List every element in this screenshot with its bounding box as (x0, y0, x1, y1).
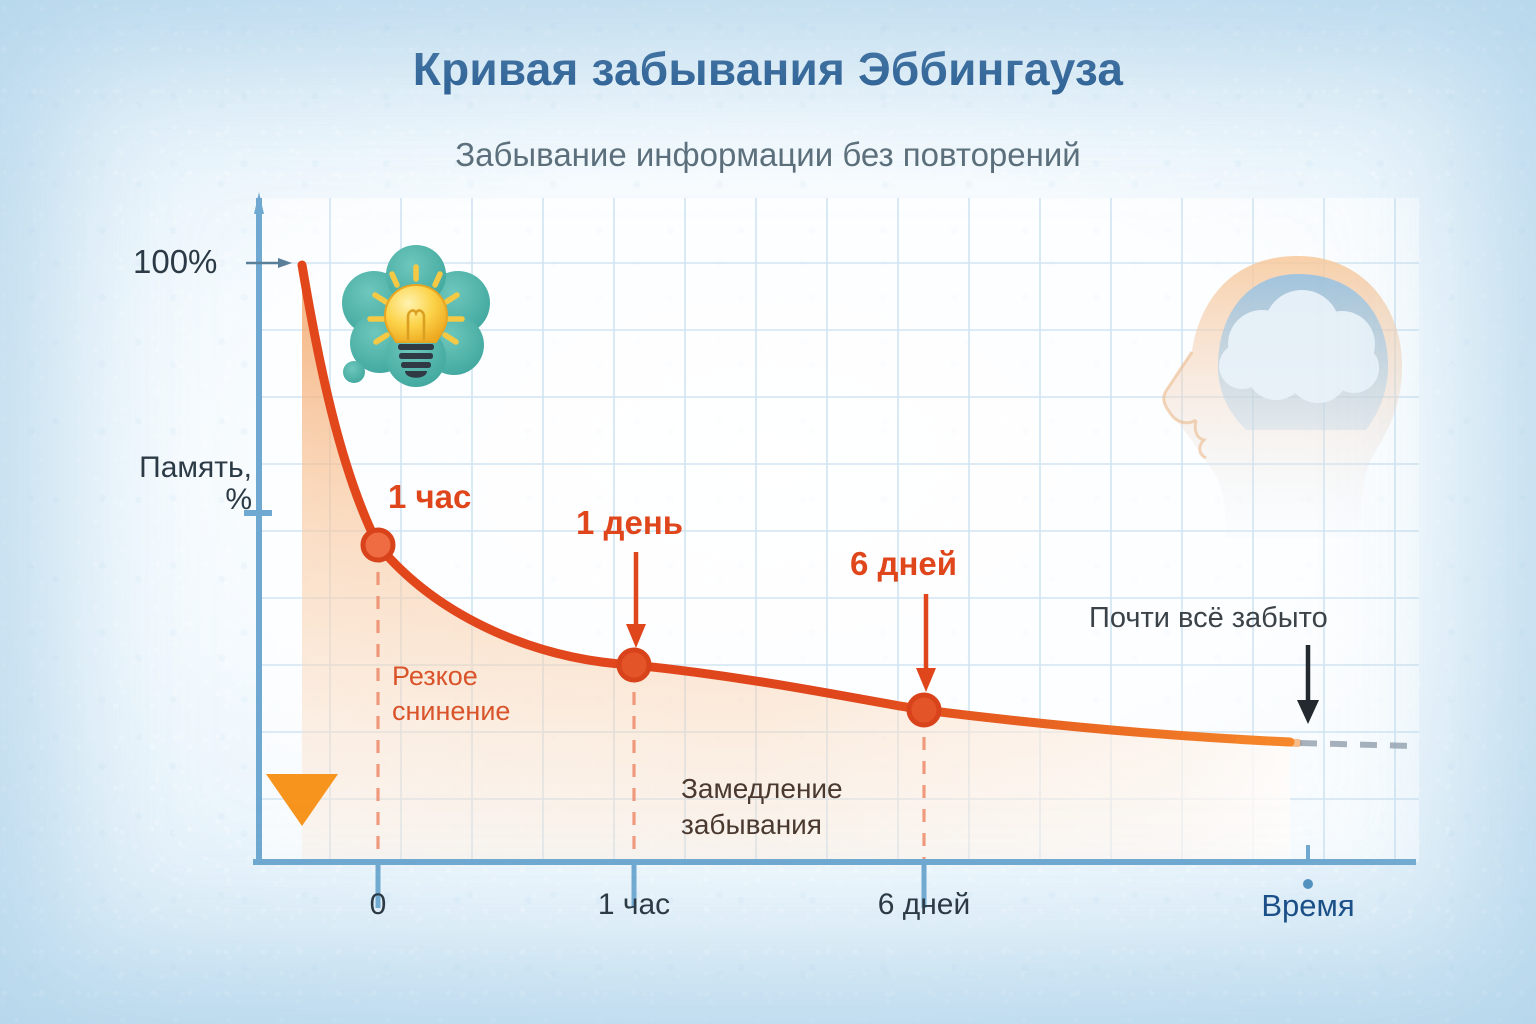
region-label-slow-forgetting: Замедление забывания (681, 771, 843, 843)
x-axis-tick-label-6days: 6 дней (844, 888, 1004, 922)
head-brain-icon (1130, 248, 1430, 538)
y-axis-title: Память, % (100, 452, 252, 515)
curve-tail-fade (1240, 740, 1298, 743)
x-axis-tick-label-1hour: 1 час (559, 888, 709, 922)
data-point-1day[interactable] (619, 650, 649, 680)
annotation-6days: 6 дней (850, 545, 957, 583)
region-slow-line2: забывания (681, 807, 843, 843)
y-axis-tick-label-100: 100% (133, 243, 217, 281)
region-slow-line1: Замедление (681, 771, 843, 807)
y-axis-title-line2: % (100, 484, 252, 516)
region-label-sharp-decline: Резкое снинение (392, 659, 510, 728)
annotation-1day: 1 день (576, 504, 683, 542)
region-sharp-line2: снинение (392, 694, 510, 729)
infographic-canvas: Кривая забывания Эббингауза Забывание ин… (0, 0, 1536, 1024)
x-axis-title: Время (1228, 888, 1388, 924)
data-point-1hour[interactable] (363, 530, 393, 560)
annotation-almost-forgotten: Почти всё забыто (1089, 602, 1328, 635)
region-sharp-line1: Резкое (392, 659, 510, 694)
annotation-1hour: 1 час (388, 478, 471, 516)
y-axis-title-line1: Память, (100, 452, 252, 484)
data-point-6days[interactable] (909, 695, 939, 725)
x-axis-tick-label-0: 0 (328, 888, 428, 922)
thought-cloud-icon (330, 245, 500, 405)
